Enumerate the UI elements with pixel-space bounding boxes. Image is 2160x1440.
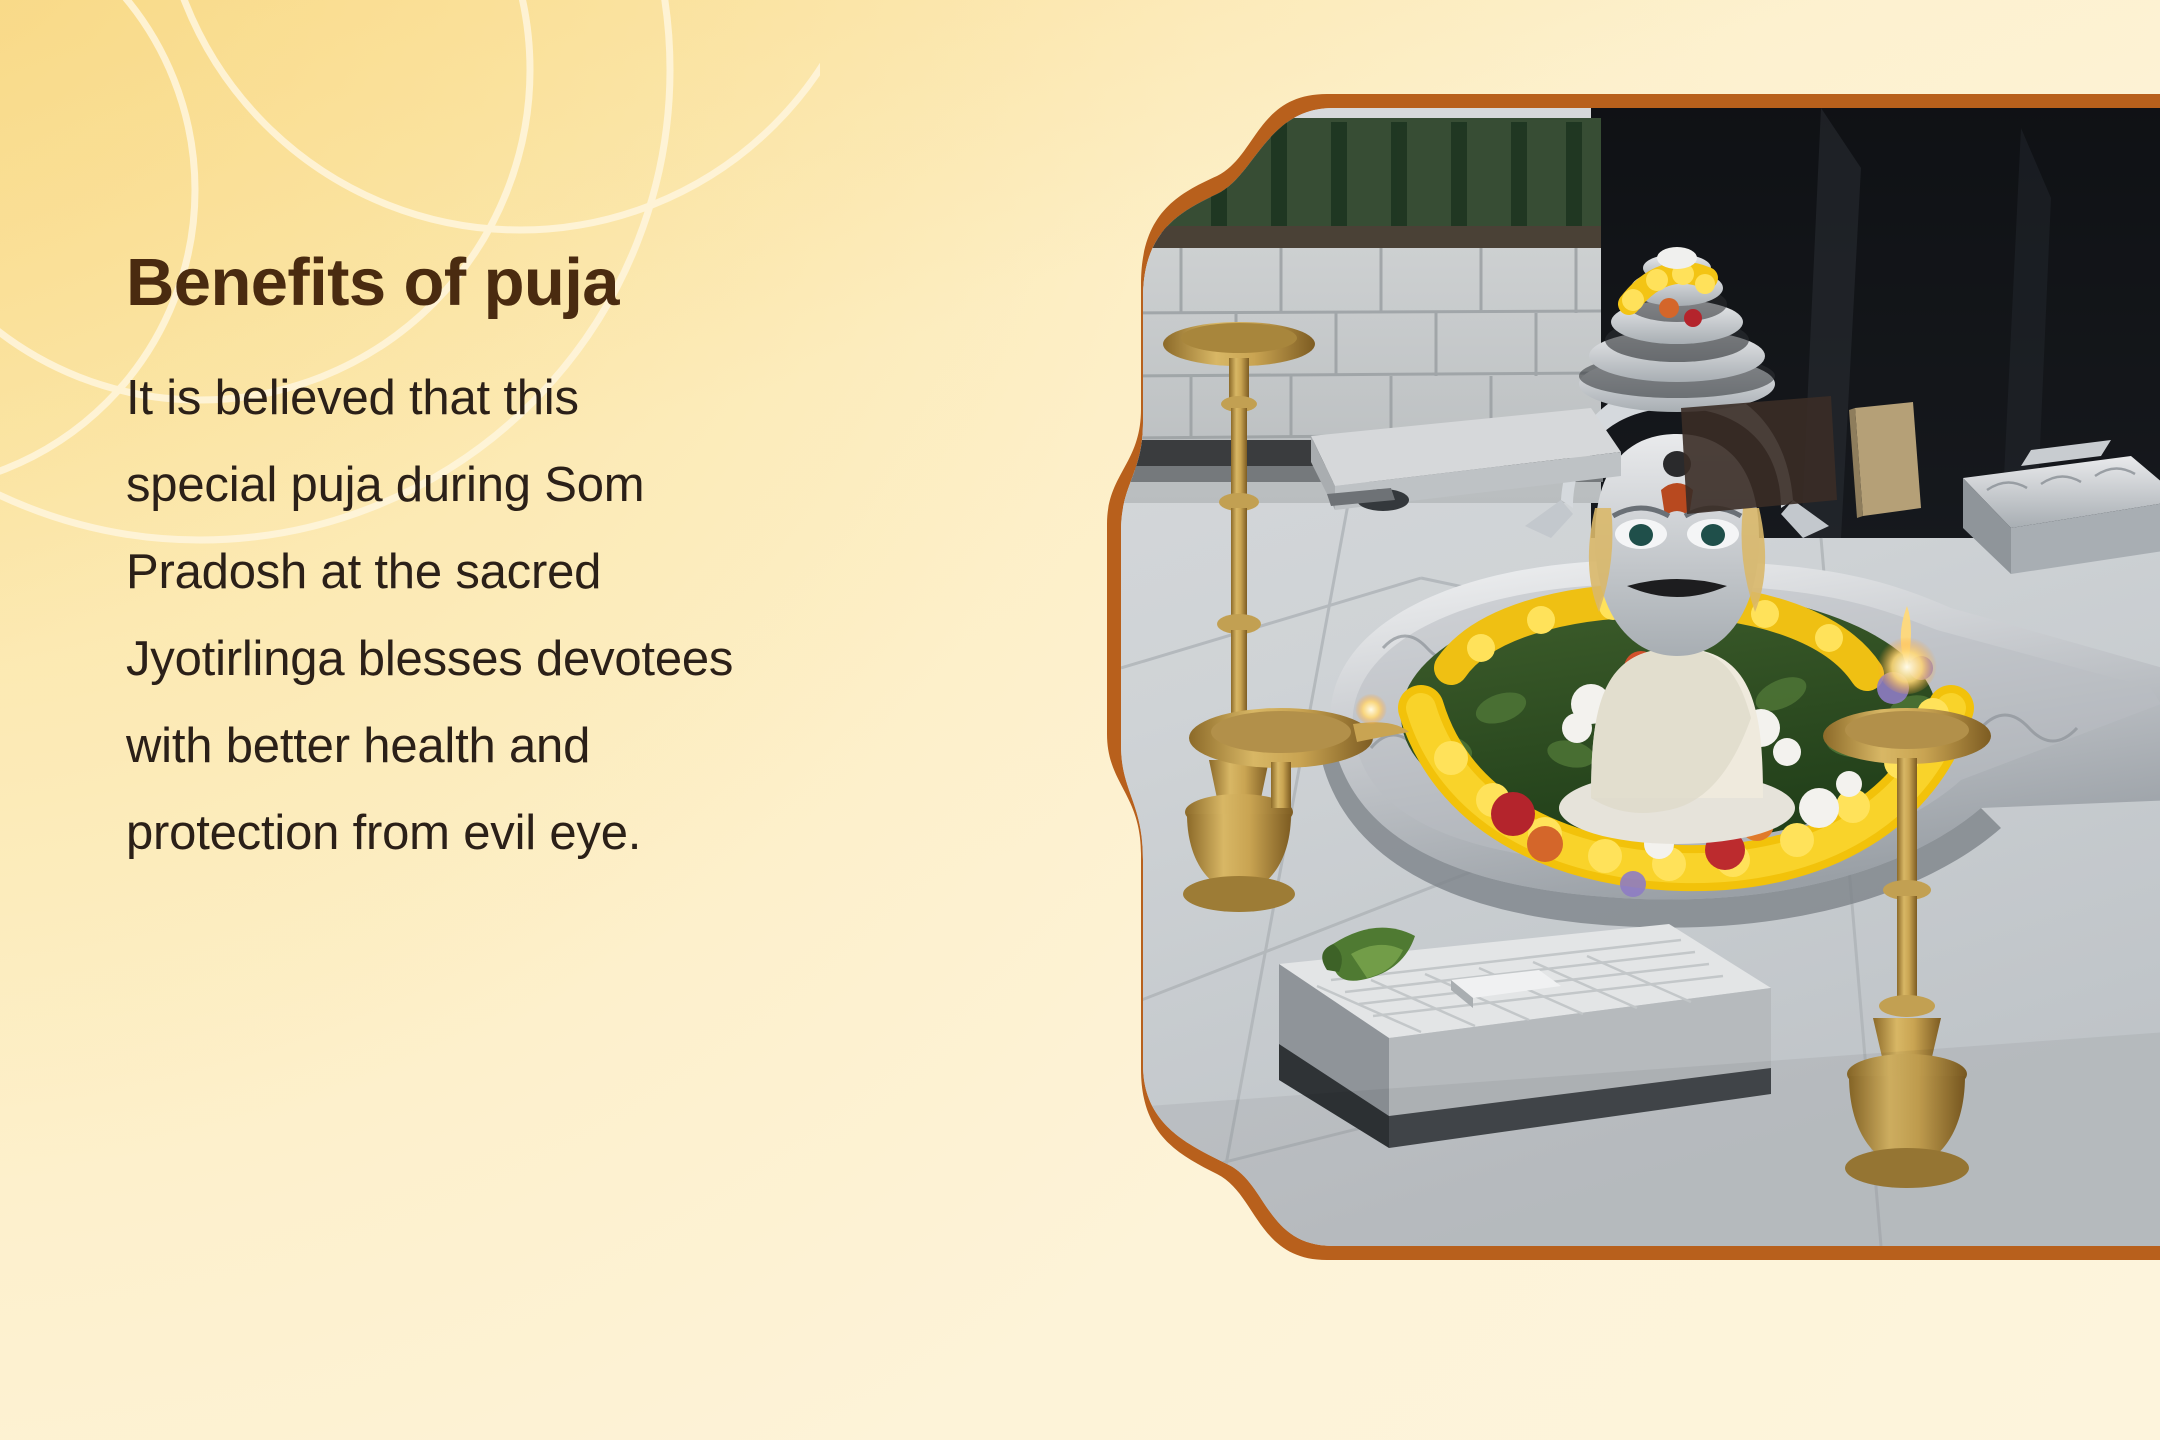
- photo-frame: [1107, 94, 2160, 1260]
- body-text-line: protection from evil eye.: [126, 809, 1086, 858]
- slide-canvas: Benefits of puja It is believed that thi…: [0, 0, 2160, 1440]
- lamp-flame: [1355, 692, 1387, 724]
- body-text-line: It is believed that this: [126, 374, 1086, 423]
- temple-photo: [1121, 108, 2160, 1246]
- body-text-line: with better health and: [126, 722, 1086, 771]
- body-text-line: Pradosh at the sacred: [126, 548, 1086, 597]
- page-title: Benefits of puja: [126, 248, 1086, 318]
- body-text-line: special puja during Som: [126, 461, 1086, 510]
- body-text-line: Jyotirlinga blesses devotees: [126, 635, 1086, 684]
- lamp-flame: [1877, 634, 1937, 694]
- window-grille: [1121, 118, 1601, 248]
- text-column: Benefits of puja It is believed that thi…: [126, 248, 1086, 858]
